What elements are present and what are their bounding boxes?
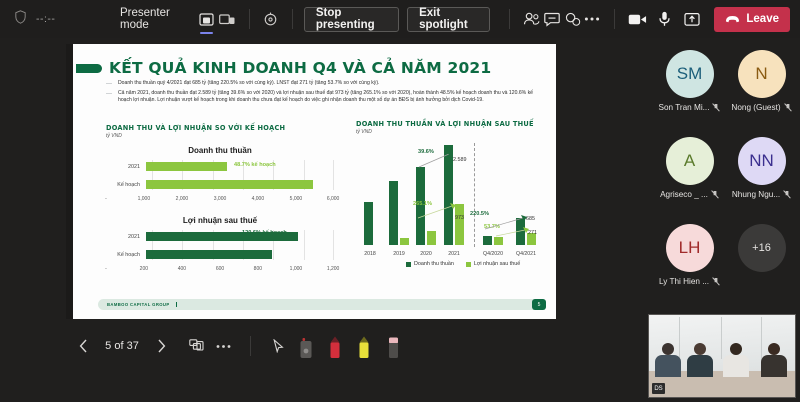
layout-standout-icon [199, 13, 214, 26]
bar-track [146, 232, 334, 241]
plan-annotation: 120.6% kế hoạch [242, 230, 287, 236]
participant-name: Nong (Guest) [731, 103, 780, 112]
person-silhouette [655, 343, 681, 377]
chevron-right-icon [157, 339, 166, 353]
meeting-top-bar: --:-- Presenter mode [0, 0, 800, 38]
participant-name: Agriseco _ ... [660, 190, 708, 199]
participant-name-row: Nhung Ngu... [724, 190, 799, 199]
more-options-button[interactable] [582, 7, 602, 31]
bullet-text: Doanh thu thuần quý 4/2021 đạt 685 tỷ (t… [118, 80, 379, 89]
layout-side-by-side-icon [219, 13, 235, 26]
participant-name: Ly Thi Hien ... [659, 277, 709, 286]
toolbar-more-button[interactable] [212, 335, 234, 357]
axis-tick: 5,000 [290, 196, 303, 202]
participant-roster: SM Son Tran Mi... N Nong (Guest) A Agris… [650, 40, 800, 312]
left-panel-title: DOANH THU VÀ LỢI NHUẬN SO VỚI KẾ HOẠCH [106, 124, 334, 132]
divider [509, 9, 510, 29]
slide-title: KẾT QUẢ KINH DOANH Q4 VÀ CẢ NĂM 2021 [109, 59, 491, 77]
share-screen-icon [684, 12, 700, 27]
avatar: NN [738, 137, 786, 185]
axis-tick: 6,000 [327, 196, 340, 202]
eraser-icon [387, 336, 400, 359]
avatar: LH [666, 224, 714, 272]
axis-category: Q4/2020 [483, 251, 503, 257]
more-options-icon [216, 344, 231, 349]
participant-name-row: Ly Thi Hien ... [652, 277, 727, 286]
slide-page-indicator: 5 of 37 [99, 340, 145, 352]
grid-view-button[interactable] [185, 335, 207, 357]
chat-button[interactable] [542, 7, 562, 31]
slide-navigation-toolbar: 5 of 37 [0, 324, 648, 368]
reactions-icon [564, 12, 581, 27]
slide-title-row: KẾT QUẢ KINH DOANH Q4 VÀ CẢ NĂM 2021 [76, 59, 491, 77]
avatar: SM [666, 50, 714, 98]
axis-tick: 4,000 [252, 196, 265, 202]
layout-side-by-side-button[interactable] [217, 7, 238, 31]
camera-button[interactable] [625, 7, 650, 31]
footer-brand: BAMBOO CAPITAL GROUP [98, 302, 177, 307]
axis-category: 2020 [420, 251, 432, 257]
participant-tile[interactable]: SM Son Tran Mi... [652, 50, 727, 112]
x-axis: - 200 400 600 800 1,000 1,200 [106, 266, 334, 275]
bullet-item: — Cả năm 2021, doanh thu thuần đạt 2.589… [106, 90, 546, 105]
person-silhouette [761, 343, 787, 377]
presenter-mode-label: Presenter mode [120, 7, 187, 31]
growth-arrows [356, 141, 551, 261]
slide-grid-icon [189, 339, 204, 353]
axis-category: Q4/2021 [516, 251, 536, 257]
chat-icon [544, 12, 560, 27]
axis-tick: 1,000 [290, 266, 303, 272]
participant-name-row: Agriseco _ ... [652, 190, 727, 199]
teams-meeting-window: --:-- Presenter mode [0, 0, 800, 402]
microphone-button[interactable] [652, 7, 677, 31]
chart-profit-vs-plan: Lợi nhuận sau thuế 2021 Kế hoạch [106, 216, 334, 274]
axis-tick: 1,000 [138, 196, 151, 202]
participant-name-row: Nong (Guest) [724, 103, 799, 112]
participant-tile[interactable]: N Nong (Guest) [724, 50, 799, 112]
avatar: N [738, 50, 786, 98]
laser-pointer-icon [299, 337, 313, 359]
right-chart-panel: DOANH THU THUẦN VÀ LỢI NHUẬN SAU THUẾ tỷ… [356, 120, 551, 261]
laser-pointer-button[interactable] [294, 333, 318, 359]
chart-plot-area: 2021 Kế hoạch 48.7% kế hoạch [106, 160, 334, 204]
yellow-highlighter-icon [357, 336, 371, 359]
red-pen-button[interactable] [323, 333, 347, 359]
bar-row: 2021 [106, 230, 334, 243]
divider [249, 9, 250, 29]
people-icon [523, 12, 540, 26]
spotlight-button[interactable] [261, 7, 281, 31]
legend-item: Lợi nhuận sau thuế [466, 261, 520, 267]
bar-category-label: 2021 [106, 234, 146, 240]
top-bar-center: Presenter mode [120, 7, 625, 32]
bullet-dash-icon: — [106, 80, 112, 89]
bar-category-label: Kế hoạch [106, 182, 146, 188]
slide-page-number: 5 [532, 299, 546, 310]
participant-tile[interactable]: NN Nhung Ngu... [724, 137, 799, 199]
yellow-highlighter-button[interactable] [352, 333, 376, 359]
left-panel-unit: tỷ VND [106, 133, 334, 139]
muted-icon [711, 190, 719, 199]
legend-swatch [406, 262, 411, 267]
participant-tile[interactable]: A Agriseco _ ... [652, 137, 727, 199]
axis-tick: 1,200 [327, 266, 340, 272]
bar-track [146, 180, 334, 189]
leave-button[interactable]: Leave [714, 7, 790, 32]
bullet-item: — Doanh thu thuần quý 4/2021 đạt 685 tỷ … [106, 80, 546, 89]
bar-row: Kế hoạch [106, 248, 334, 261]
reactions-button[interactable] [562, 7, 582, 31]
stop-presenting-button[interactable]: Stop presenting [304, 7, 399, 32]
bar-fill [146, 250, 272, 259]
legend-item: Doanh thu thuần [406, 261, 454, 267]
divider [614, 9, 615, 29]
muted-icon [783, 190, 791, 199]
slide-bullets: — Doanh thu thuần quý 4/2021 đạt 685 tỷ … [106, 80, 546, 106]
chart-title: Lợi nhuận sau thuế [106, 216, 334, 225]
divider [250, 336, 251, 356]
leave-label: Leave [746, 13, 779, 25]
muted-icon [712, 277, 720, 286]
exit-spotlight-button[interactable]: Exit spotlight [407, 7, 490, 32]
right-panel-title: DOANH THU THUẦN VÀ LỢI NHUẬN SAU THUẾ [356, 120, 551, 128]
plan-annotation: 48.7% kế hoạch [234, 162, 276, 168]
more-options-icon [584, 16, 600, 22]
person-silhouette [723, 343, 749, 377]
axis-tick: - [105, 266, 107, 272]
axis-tick: - [105, 196, 107, 202]
axis-tick: 3,000 [214, 196, 227, 202]
participant-name-row: Son Tran Mi... [652, 103, 727, 112]
red-pen-icon [328, 336, 342, 359]
top-bar-right: Leave [625, 7, 800, 32]
divider [292, 9, 293, 29]
bullet-text: Cả năm 2021, doanh thu thuần đạt 2.589 t… [118, 90, 546, 105]
chart-plot-area: 2021 Kế hoạch 120.6% kế hoạch [106, 230, 334, 274]
microphone-icon [658, 11, 671, 27]
legend-swatch [466, 262, 471, 267]
title-accent-dash [76, 64, 102, 73]
chart-legend: Doanh thu thuần Lợi nhuận sau thuế [406, 261, 520, 267]
eraser-button[interactable] [381, 333, 405, 359]
share-screen-button[interactable] [679, 7, 704, 31]
cursor-tool-button[interactable] [267, 335, 289, 357]
camera-icon [628, 13, 647, 26]
chart-revenue-vs-plan: Doanh thu thuần 2021 Kế hoạch [106, 146, 334, 204]
x-axis: - 1,000 2,000 3,000 4,000 5,000 6,000 [106, 196, 334, 205]
next-slide-button[interactable] [150, 335, 172, 357]
hangup-icon [725, 15, 740, 24]
axis-tick: 400 [178, 266, 186, 272]
axis-category: 2018 [364, 251, 376, 257]
muted-icon [784, 103, 792, 112]
chevron-left-icon [79, 339, 88, 353]
bullet-dash-icon: — [106, 90, 112, 105]
self-view-video[interactable]: DS [648, 314, 796, 398]
window-frame [721, 317, 722, 359]
bar-fill [146, 162, 227, 171]
slide-footer: BAMBOO CAPITAL GROUP 5 [98, 299, 546, 310]
person-silhouette [687, 343, 713, 377]
spotlight-icon [263, 12, 278, 27]
participant-tile[interactable]: LH Ly Thi Hien ... [652, 224, 727, 286]
axis-category: 2021 [448, 251, 460, 257]
left-chart-panel: DOANH THU VÀ LỢI NHUẬN SO VỚI KẾ HOẠCH t… [106, 124, 334, 274]
participant-overflow-tile[interactable]: +16 [724, 224, 799, 272]
participant-name: Nhung Ngu... [732, 190, 780, 199]
chart-revenue-profit-trend: 2.589 973 685 271 39.6% 265.1% 220.5% 53… [356, 141, 551, 261]
bar-fill [146, 180, 313, 189]
meeting-timer: --:-- [36, 13, 55, 25]
participant-name: Son Tran Mi... [659, 103, 710, 112]
presentation-stage: KẾT QUẢ KINH DOANH Q4 VÀ CẢ NĂM 2021 — D… [0, 38, 648, 324]
bar-category-label: Kế hoạch [106, 252, 146, 258]
avatar: A [666, 137, 714, 185]
shield-icon [14, 10, 27, 29]
axis-category: 2019 [393, 251, 405, 257]
overflow-count: +16 [738, 224, 786, 272]
previous-slide-button[interactable] [72, 335, 94, 357]
bar-category-label: 2021 [106, 164, 146, 170]
layout-standout-button[interactable] [196, 7, 217, 31]
people-button[interactable] [521, 7, 541, 31]
bar-track [146, 250, 334, 259]
legend-label: Lợi nhuận sau thuế [474, 261, 520, 267]
cursor-tool-icon [273, 339, 284, 353]
right-panel-unit: tỷ VND [356, 129, 551, 135]
chart-title: Doanh thu thuần [106, 146, 334, 155]
slide-accent-bar [66, 44, 73, 319]
axis-tick: 200 [140, 266, 148, 272]
axis-tick: 600 [216, 266, 224, 272]
legend-label: Doanh thu thuần [414, 261, 454, 267]
axis-tick: 2,000 [176, 196, 189, 202]
bar-row: 2021 [106, 160, 334, 173]
slide-content[interactable]: KẾT QUẢ KINH DOANH Q4 VÀ CẢ NĂM 2021 — D… [66, 44, 556, 319]
video-badge: DS [652, 383, 665, 394]
axis-tick: 800 [254, 266, 262, 272]
top-bar-left: --:-- [0, 10, 120, 29]
muted-icon [712, 103, 720, 112]
bar-row: Kế hoạch [106, 178, 334, 191]
